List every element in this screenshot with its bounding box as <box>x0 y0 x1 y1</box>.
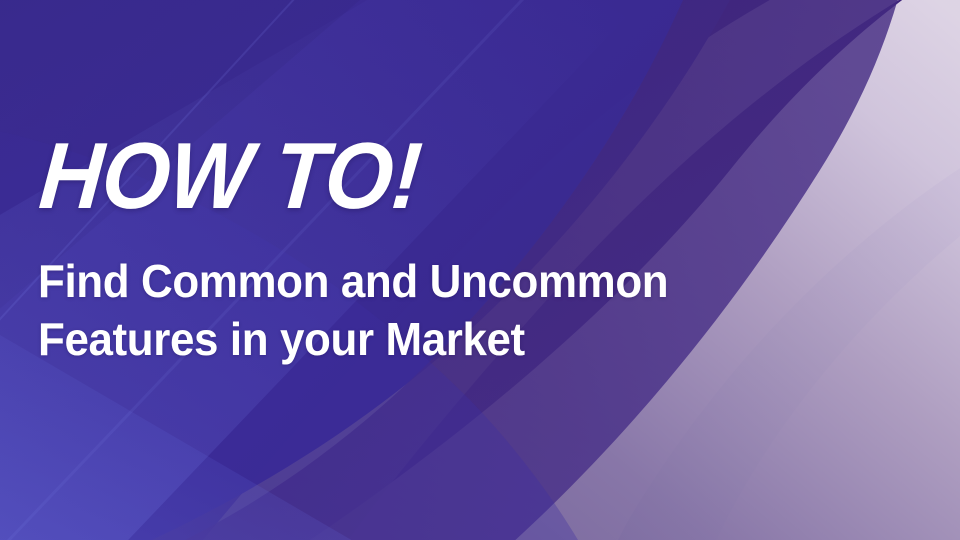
kicker-how-to: HOW TO! <box>36 128 424 224</box>
slide-text-layer: HOW TO! Find Common and Uncommon Feature… <box>0 0 960 540</box>
headline-line-2: Features in your Market <box>38 310 668 368</box>
slide-canvas: HOW TO! Find Common and Uncommon Feature… <box>0 0 960 540</box>
headline-line-1: Find Common and Uncommon <box>38 252 668 310</box>
page-title: Find Common and Uncommon Features in you… <box>38 252 668 368</box>
